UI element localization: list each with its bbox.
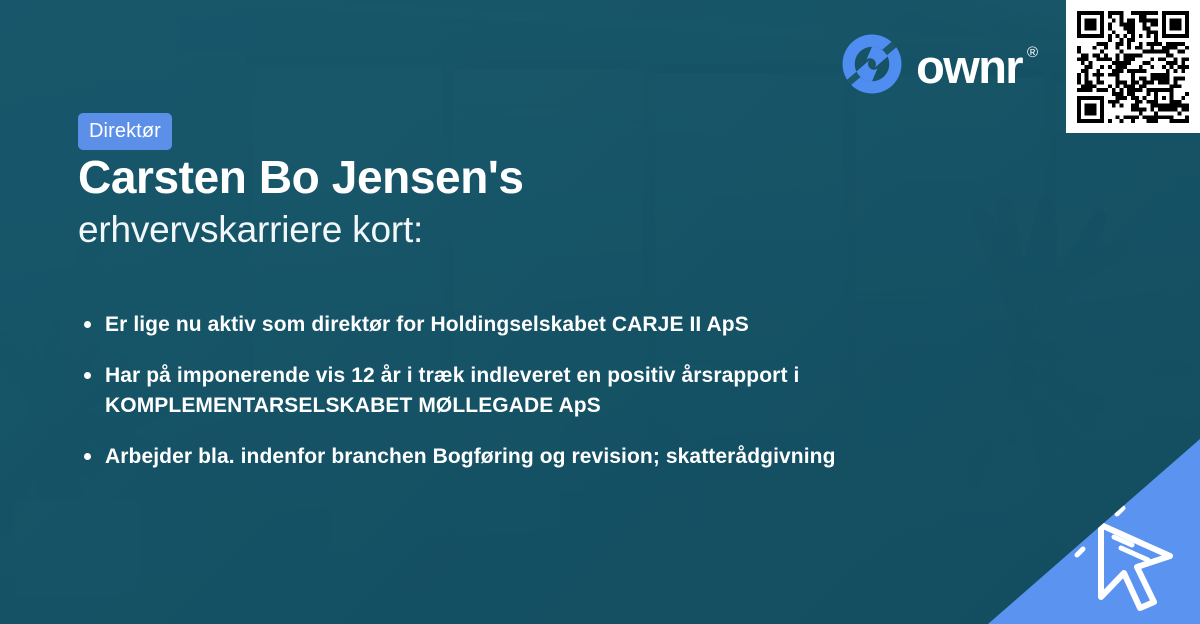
card-content: Direktør Carsten Bo Jensen's erhvervskar… [0, 0, 1200, 624]
headline-block: Carsten Bo Jensen's erhvervskarriere kor… [78, 152, 1038, 252]
career-fact-item: Arbejder bla. indenfor branchen Bogførin… [82, 442, 1022, 473]
ownr-circle-swoosh-icon [841, 33, 903, 100]
registered-trademark-symbol: ® [1027, 45, 1038, 60]
qr-code-panel[interactable] [1066, 0, 1200, 133]
person-name: Carsten Bo Jensen's [78, 152, 1038, 204]
bullet-icon [84, 321, 91, 328]
ownr-logo[interactable]: ownr® [841, 33, 1022, 100]
bullet-icon [84, 453, 91, 460]
qr-code-icon[interactable] [1077, 11, 1189, 123]
career-fact-text: Er lige nu aktiv som direktør for Holdin… [105, 313, 749, 336]
career-fact-text: Har på imponerende vis 12 år i træk indl… [105, 364, 799, 418]
career-fact-text: Arbejder bla. indenfor branchen Bogførin… [105, 445, 836, 468]
ownr-wordmark-text: ownr [916, 40, 1022, 93]
card-subtitle: erhvervskarriere kort: [78, 208, 1038, 252]
ownr-wordmark: ownr® [916, 43, 1022, 90]
career-fact-item: Er lige nu aktiv som direktør for Holdin… [82, 310, 1022, 341]
role-badge: Direktør [78, 113, 172, 150]
career-fact-item: Har på imponerende vis 12 år i træk indl… [82, 361, 1022, 422]
business-career-card: Direktør Carsten Bo Jensen's erhvervskar… [0, 0, 1200, 624]
career-facts-list: Er lige nu aktiv som direktør for Holdin… [82, 310, 1022, 493]
bullet-icon [84, 372, 91, 379]
click-cursor-icon [1074, 499, 1192, 616]
